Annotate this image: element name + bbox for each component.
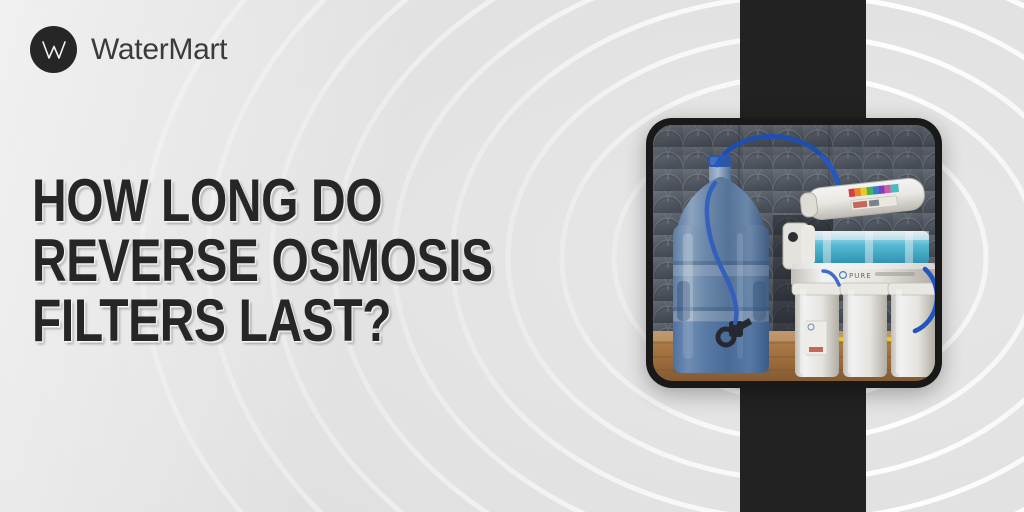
- reverse-osmosis-system-photo: Blue 5-gallon water jug beside a white u…: [653, 125, 935, 381]
- headline-line-2: REVERSE OSMOSIS: [32, 231, 480, 291]
- reverse-osmosis-system-photo-card: Blue 5-gallon water jug beside a white u…: [646, 118, 942, 388]
- blog-banner: WaterMart HOW LONG DO REVERSE OSMOSIS FI…: [0, 0, 1024, 512]
- w-monogram-icon: [30, 26, 77, 73]
- headline-line-3: FILTERS LAST?: [32, 291, 480, 351]
- brand-logo[interactable]: WaterMart: [30, 26, 227, 73]
- headline-line-1: HOW LONG DO: [32, 171, 480, 231]
- brand-name: WaterMart: [91, 35, 227, 65]
- photo-alt-text: Blue 5-gallon water jug beside a white u…: [653, 125, 654, 126]
- page-title: HOW LONG DO REVERSE OSMOSIS FILTERS LAST…: [32, 171, 592, 351]
